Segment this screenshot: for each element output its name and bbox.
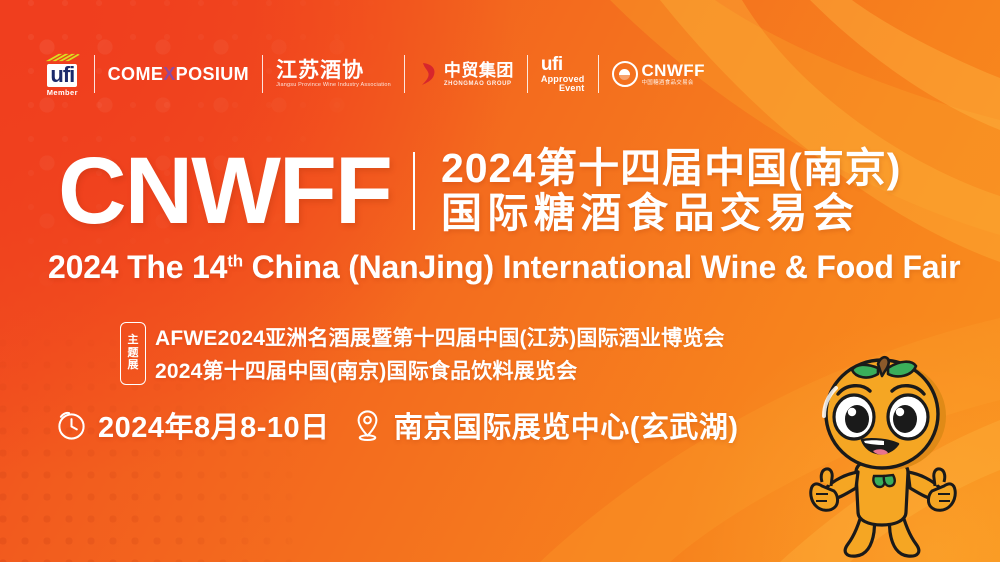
theme-exhibitions: 主 题 展 AFWE2024亚洲名酒展暨第十四届中国(江苏)国际酒业博览会 20… (120, 322, 725, 385)
event-venue: 南京国际展览中心(玄武湖) (394, 404, 739, 446)
comexposium-part2: POSIUM (176, 64, 249, 84)
logo-separator (527, 55, 528, 93)
badge-char-2: 题 (128, 348, 139, 360)
chinese-title-line2: 国际糖酒食品交易会 (441, 193, 902, 235)
theme-exhibition-badge: 主 题 展 (120, 322, 146, 385)
comexposium-x: X (163, 64, 175, 84)
event-meta: 2024年8月8-10日 南京国际展览中心(玄武湖) (56, 404, 739, 446)
ufi-member-logo: ufi Member (44, 50, 81, 98)
clock-icon (56, 410, 87, 441)
zhongmao-group-logo: 中贸集团 ZHONGMAO GROUP (418, 50, 514, 98)
logo-separator (94, 55, 95, 93)
promotional-banner: ufi Member COMEXPOSIUM 江苏酒协 Jiangsu Prov… (0, 0, 1000, 562)
cnwff-ring-icon (612, 61, 638, 87)
event-date-item: 2024年8月8-10日 (56, 404, 330, 446)
ufi-member-word: ufi (47, 64, 77, 87)
chinese-title-line1: 2024第十四届中国(南京) (441, 148, 902, 190)
ufi-member-sub: Member (47, 89, 78, 97)
zhongmao-emblem-icon (418, 61, 440, 87)
comexposium-logo: COMEXPOSIUM (108, 50, 249, 98)
event-acronym: CNWFF (58, 146, 391, 236)
zhongmao-en: ZHONGMAO GROUP (444, 81, 514, 87)
zhongmao-cn: 中贸集团 (444, 62, 514, 79)
english-subtitle-ordinal: th (227, 251, 243, 270)
ufi-approved-event-logo: ufi Approved Event (541, 50, 585, 98)
location-pin-icon (352, 409, 383, 442)
event-date: 2024年8月8-10日 (98, 404, 330, 446)
cnwff-brand-logo: CNWFF 中国糖酒食品交易会 (612, 50, 705, 98)
badge-char-3: 展 (128, 360, 139, 372)
sponsor-logo-bar: ufi Member COMEXPOSIUM 江苏酒协 Jiangsu Prov… (44, 50, 705, 98)
main-headline: CNWFF 2024第十四届中国(南京) 国际糖酒食品交易会 (58, 146, 901, 236)
logo-separator (404, 55, 405, 93)
jiangsu-wine-association-logo: 江苏酒协 Jiangsu Province Wine Industry Asso… (276, 50, 391, 98)
cnwff-logo-sub: 中国糖酒食品交易会 (642, 81, 705, 87)
badge-char-1: 主 (128, 335, 139, 347)
english-subtitle-prefix: 2024 The 14 (48, 249, 227, 285)
jiangsu-assoc-en: Jiangsu Province Wine Industry Associati… (276, 83, 391, 89)
event-venue-item: 南京国际展览中心(玄武湖) (352, 404, 739, 446)
comexposium-part1: COME (108, 64, 164, 84)
english-subtitle-suffix: China (NanJing) International Wine & Foo… (243, 249, 960, 285)
headline-divider (413, 152, 415, 230)
theme-line-1: AFWE2024亚洲名酒展暨第十四届中国(江苏)国际酒业博览会 (155, 322, 725, 352)
orange-mascot-character (778, 354, 994, 562)
jiangsu-assoc-cn: 江苏酒协 (276, 60, 391, 81)
theme-line-2: 2024第十四届中国(南京)国际食品饮料展览会 (155, 355, 725, 385)
english-subtitle: 2024 The 14th China (NanJing) Internatio… (48, 249, 960, 286)
cnwff-logo-abbr: CNWFF (642, 62, 705, 79)
logo-separator (598, 55, 599, 93)
ufi-approved-word: ufi (541, 55, 563, 74)
ufi-approved-line2: Event (559, 84, 585, 93)
logo-separator (262, 55, 263, 93)
